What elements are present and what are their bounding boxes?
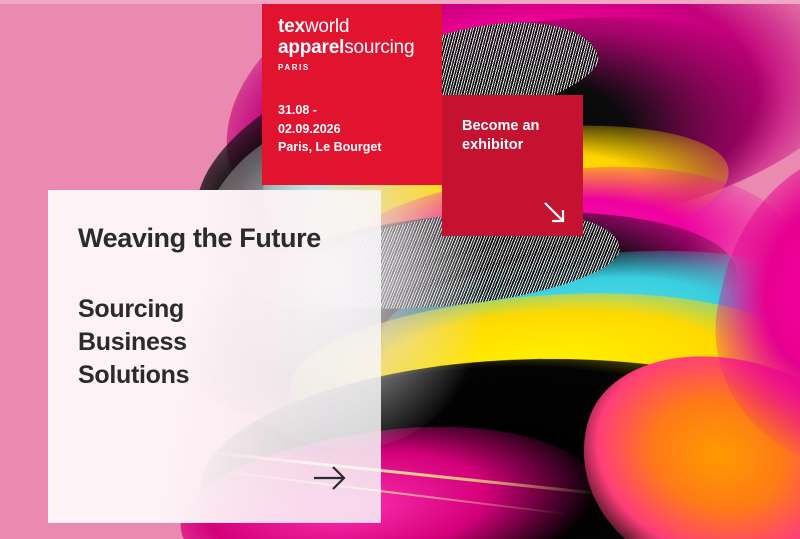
top-accent-strip — [0, 0, 800, 4]
hero-banner: texworld apparelsourcing PARIS 31.08 - 0… — [0, 0, 800, 539]
logo-line-1: texworld — [278, 16, 426, 37]
event-location: Paris, Le Bourget — [278, 138, 426, 157]
hero-title: Weaving the Future — [78, 224, 351, 254]
texworld-logo: texworld apparelsourcing PARIS — [278, 16, 426, 72]
logo-world: world — [305, 16, 349, 37]
event-logo-card: texworld apparelsourcing PARIS 31.08 - 0… — [262, 0, 442, 185]
hero-subtitle-line-2: Business — [78, 326, 351, 359]
event-date-line-2: 02.09.2026 — [278, 120, 426, 139]
exhibitor-title-line-1: Become an — [462, 117, 565, 136]
logo-tex: tex — [278, 16, 305, 37]
event-date-line-1: 31.08 - — [278, 101, 426, 120]
arrow-right-icon[interactable] — [312, 463, 348, 493]
logo-line-2: apparelsourcing — [278, 37, 426, 58]
hero-subtitle-line-1: Sourcing — [78, 293, 351, 326]
event-details: 31.08 - 02.09.2026 Paris, Le Bourget — [278, 101, 426, 157]
hero-content-card[interactable]: Weaving the Future Sourcing Business Sol… — [48, 190, 381, 523]
exhibitor-card-title: Become an exhibitor — [462, 117, 565, 155]
hero-subtitle-line-3: Solutions — [78, 359, 351, 392]
become-an-exhibitor-card[interactable]: Become an exhibitor — [442, 95, 583, 236]
exhibitor-title-line-2: exhibitor — [462, 136, 565, 155]
arrow-down-right-icon — [542, 200, 568, 226]
logo-sourcing: sourcing — [344, 37, 414, 58]
logo-city: PARIS — [278, 64, 426, 73]
logo-apparel: apparel — [278, 37, 344, 58]
hero-subtitle: Sourcing Business Solutions — [78, 293, 351, 392]
